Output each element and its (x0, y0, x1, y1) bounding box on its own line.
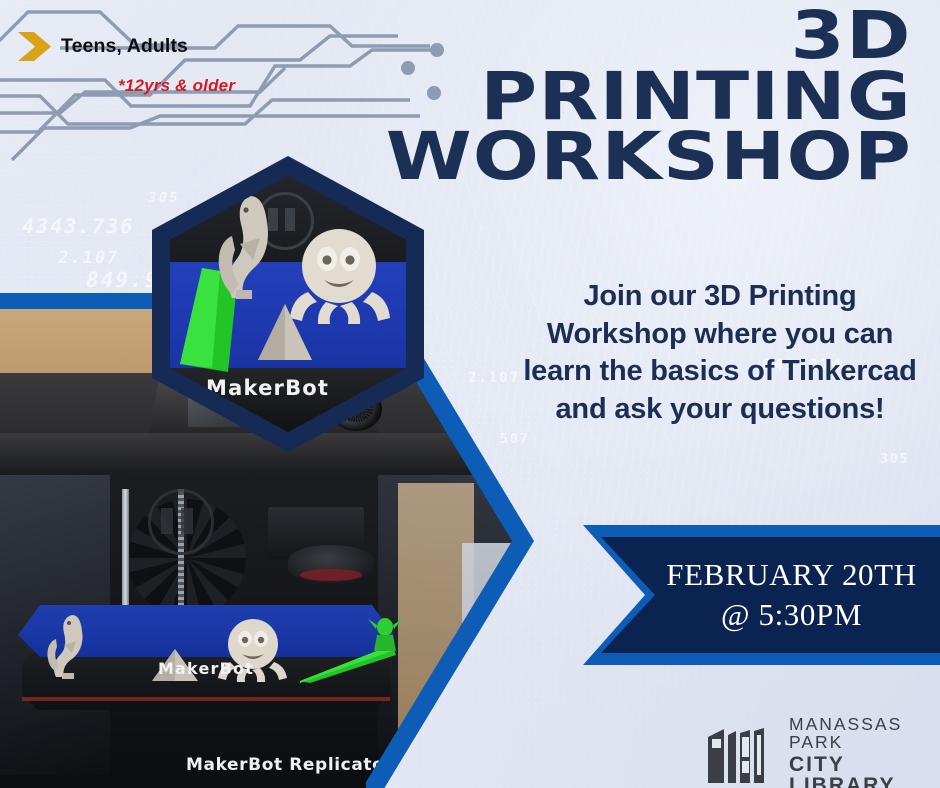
poster-canvas: 4343.736 2.107 849.974 849.974 2.107 507… (0, 0, 940, 788)
background-number-7: 305 (880, 452, 909, 467)
library-books-icon (706, 725, 778, 787)
background-number-1: 4343.736 (20, 214, 137, 238)
page-title: 3D PRINTING WORKSHOP (392, 4, 912, 190)
gold-chevron-icon (18, 30, 52, 63)
library-name-line1: MANASSAS PARK (789, 716, 940, 751)
audience-badge: Teens, Adults (18, 30, 188, 63)
makerbot-logo-icon (148, 489, 214, 555)
event-time: @ 5:30PM (721, 595, 862, 635)
printer-plate-accent (22, 697, 390, 701)
printer-spool-accent (300, 569, 362, 581)
background-number-2: 2.107 (56, 248, 121, 268)
makerbot-plate-label: MakerBot (22, 659, 390, 678)
audience-label: Teens, Adults (61, 35, 188, 58)
makerbot-model-caption: MakerBot Replicator (186, 755, 393, 775)
title-line-3: WORKSHOP (386, 125, 912, 190)
printed-green-figure-model (368, 615, 402, 651)
event-date: FEBRUARY 20TH (666, 555, 916, 595)
age-restriction-note: *12yrs & older (118, 76, 235, 96)
library-logo: MANASSAS PARK CITY LIBRARY (706, 716, 940, 788)
description-text: Join our 3D Printing Workshop where you … (520, 278, 920, 429)
background-number-5: 2.107 (468, 370, 520, 386)
hex-makerbot-label: MakerBot (206, 376, 329, 400)
event-date-banner: FEBRUARY 20TH @ 5:30PM (583, 525, 940, 665)
library-logo-text: MANASSAS PARK CITY LIBRARY (789, 716, 940, 788)
background-number-6: 507 (500, 432, 529, 447)
library-name-line2: CITY LIBRARY (789, 754, 940, 788)
hex-pyramid-model (256, 304, 314, 364)
hexagon-inset-photo: MakerBot (152, 156, 424, 452)
